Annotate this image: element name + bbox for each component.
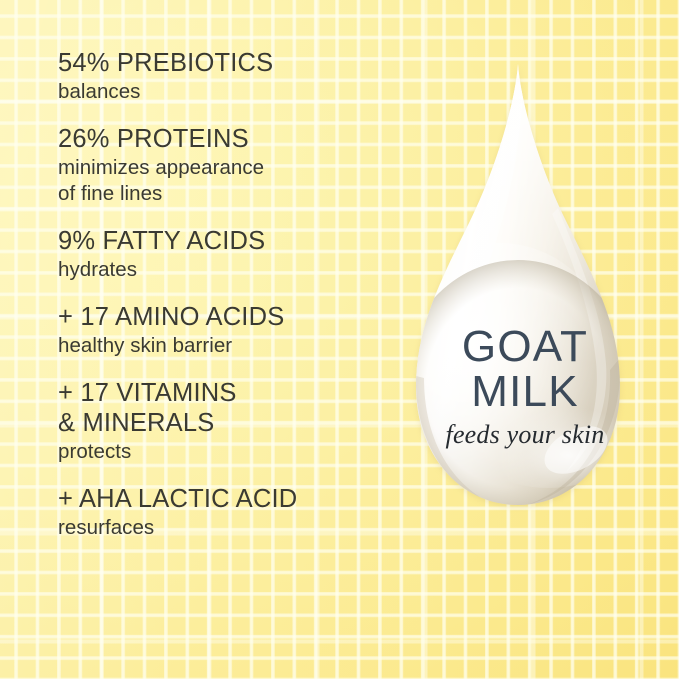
- ingredient-title: 9% FATTY ACIDS: [58, 226, 388, 256]
- ingredient-item: 9% FATTY ACIDS hydrates: [58, 226, 388, 283]
- ingredient-benefit: healthy skin barrier: [58, 333, 388, 359]
- ingredient-item: + AHA LACTIC ACID resurfaces: [58, 484, 388, 541]
- milk-droplet-illustration: [380, 58, 670, 550]
- milk-droplet-icon: [380, 58, 670, 550]
- ingredient-item: 54% PREBIOTICS balances: [58, 48, 388, 105]
- ingredient-title: 26% PROTEINS: [58, 124, 388, 154]
- ingredient-item: + 17 VITAMINS & MINERALS protects: [58, 378, 388, 465]
- ingredient-benefit: minimizes appearance of fine lines: [58, 155, 388, 207]
- ingredient-title: + 17 AMINO ACIDS: [58, 302, 388, 332]
- ingredient-list: 54% PREBIOTICS balances 26% PROTEINS min…: [58, 48, 388, 541]
- ingredient-benefit: resurfaces: [58, 515, 388, 541]
- ingredient-item: + 17 AMINO ACIDS healthy skin barrier: [58, 302, 388, 359]
- ingredient-title: + 17 VITAMINS & MINERALS: [58, 378, 388, 438]
- ingredient-item: 26% PROTEINS minimizes appearance of fin…: [58, 124, 388, 207]
- ingredient-benefit: hydrates: [58, 257, 388, 283]
- ingredient-benefit: protects: [58, 439, 388, 465]
- ingredient-title: + AHA LACTIC ACID: [58, 484, 388, 514]
- droplet-rim-shading: [400, 260, 636, 516]
- ingredient-benefit: balances: [58, 79, 388, 105]
- ingredient-title: 54% PREBIOTICS: [58, 48, 388, 78]
- goat-milk-infographic: 54% PREBIOTICS balances 26% PROTEINS min…: [0, 0, 679, 679]
